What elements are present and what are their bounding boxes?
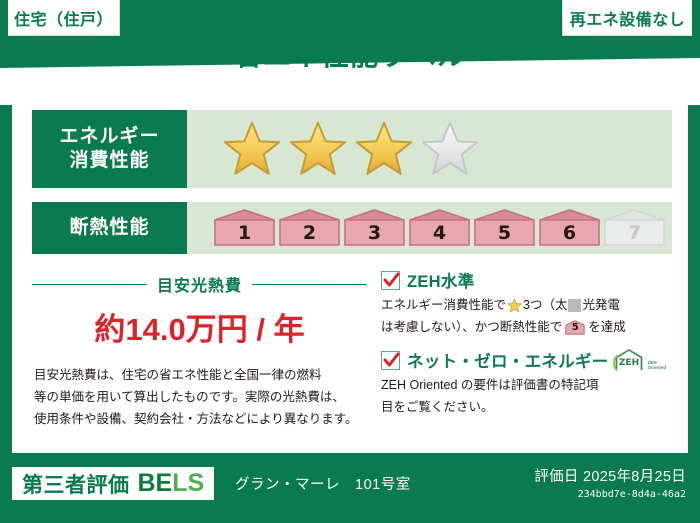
insulation-level-4: 4 <box>408 208 471 248</box>
star-rating <box>187 110 672 188</box>
insulation-level-number: 6 <box>563 222 576 248</box>
title-subtitle: 建築物省エネ法に基づく <box>0 12 700 32</box>
insulation-level-7: 7 <box>603 208 666 248</box>
star-empty-icon <box>421 121 479 177</box>
utility-cost-note: 目安光熱費は、住宅の省エネ性能と全国一律の燃料 等の単価を用いて算出したものです… <box>32 365 367 431</box>
evaluation-info: 評価日 2025年8月25日 234bbd7e-8d4a-46a2 <box>534 465 686 500</box>
net-zero-energy-label: ネット・ゼロ・エネルギー <box>407 348 609 372</box>
bels-logo: BELS <box>138 469 205 498</box>
net-zero-line-1: ZEH Oriented の要件は評価書の特記項 <box>381 375 671 397</box>
insulation-level-number: 2 <box>303 222 316 248</box>
star-filled-icon <box>355 121 413 177</box>
insulation-label-text: 断熱性能 <box>69 216 149 240</box>
redacted-character <box>568 299 581 312</box>
insulation-performance-label: 断熱性能 <box>32 202 187 254</box>
insulation-level-3: 3 <box>343 208 406 248</box>
energy-performance-label: エネルギー 消費性能 <box>32 110 187 188</box>
inline-star-icon <box>507 298 522 313</box>
heading-rule-right <box>252 284 367 285</box>
utility-cost-column: 目安光熱費 約14.0万円 / 年 目安光熱費は、住宅の省エネ性能と全国一律の燃… <box>32 268 367 440</box>
net-zero-line-2: 目をご覧ください。 <box>381 397 671 419</box>
evaluation-id: 234bbd7e-8d4a-46a2 <box>534 489 686 500</box>
insulation-level-6: 6 <box>538 208 601 248</box>
zeh-house-logo-icon: ZEH <box>612 348 646 372</box>
insulation-level-number: 4 <box>433 222 446 248</box>
zeh-standard-text-c: 光発電 <box>582 295 620 317</box>
bels-certification-block: 第三者評価 BELS <box>12 467 214 500</box>
utility-cost-heading-text: 目安光熱費 <box>147 272 252 296</box>
insulation-level-number: 5 <box>498 222 511 248</box>
zeh-logo-sub2: Oriented <box>648 365 667 370</box>
insulation-level-2: 2 <box>278 208 341 248</box>
zeh-standard-checkbox[interactable] <box>381 271 400 290</box>
zeh-standard-text-a: エネルギー消費性能で <box>381 295 506 317</box>
zeh-standard-title-row: ZEH水準 <box>381 268 671 292</box>
evaluation-date: 評価日 2025年8月25日 <box>534 465 686 486</box>
cost-note-line-2: 等の単価を用いて算出したものです。実際の光熱費は、 <box>34 387 367 409</box>
lower-section: 目安光熱費 約14.0万円 / 年 目安光熱費は、住宅の省エネ性能と全国一律の燃… <box>32 268 672 440</box>
bels-logo-dark: BE <box>138 469 173 497</box>
zeh-standard-label: ZEH水準 <box>407 268 475 292</box>
zeh-logo-subtext: ZEH Oriented <box>648 360 667 372</box>
zeh-column: ZEH水準 エネルギー消費性能で 3つ（太 光発電 は考慮しない）、かつ断熱性能… <box>381 268 671 440</box>
energy-label-line2: 消費性能 <box>69 149 149 173</box>
insulation-level-1: 1 <box>213 208 276 248</box>
insulation-level-5: 5 <box>473 208 536 248</box>
zeh-standard-line-2: は考慮しない）、かつ断熱性能で 5 を達成 <box>381 317 671 339</box>
energy-label-line1: エネルギー <box>59 125 159 149</box>
insulation-performance-row: 断熱性能 1234567 <box>32 202 672 254</box>
net-zero-energy-title-row: ネット・ゼロ・エネルギー ZEH ZEH Oriented <box>381 348 671 372</box>
svg-text:ZEH: ZEH <box>619 358 639 368</box>
insulation-level-number: 7 <box>628 222 641 248</box>
inline-house-level: 5 <box>572 323 579 335</box>
zeh-logo: ZEH ZEH Oriented <box>612 348 667 372</box>
inline-house-badge: 5 <box>565 320 585 335</box>
energy-performance-row: エネルギー 消費性能 <box>32 110 672 188</box>
zeh-standard-text-e: を達成 <box>588 317 626 339</box>
heading-rule-left <box>32 284 147 285</box>
third-party-evaluation-label: 第三者評価 <box>22 469 130 499</box>
utility-cost-heading: 目安光熱費 <box>32 272 367 296</box>
title-block: 建築物省エネ法に基づく 省エネ性能ラベル <box>0 12 700 74</box>
check-icon <box>383 272 400 289</box>
building-name: グラン・マーレ 101号室 <box>235 473 411 494</box>
zeh-standard-line-1: エネルギー消費性能で 3つ（太 光発電 <box>381 295 671 317</box>
insulation-level-scale: 1234567 <box>187 202 672 254</box>
zeh-standard-text-d: は考慮しない）、かつ断熱性能で <box>381 317 562 339</box>
star-filled-icon <box>289 121 347 177</box>
zeh-standard-block: ZEH水準 エネルギー消費性能で 3つ（太 光発電 は考慮しない）、かつ断熱性能… <box>381 268 671 338</box>
title-main: 省エネ性能ラベル <box>0 34 700 74</box>
insulation-level-number: 3 <box>368 222 381 248</box>
star-filled-icon <box>223 121 281 177</box>
net-zero-energy-description: ZEH Oriented の要件は評価書の特記項 目をご覧ください。 <box>381 375 671 418</box>
utility-cost-value: 約14.0万円 / 年 <box>32 304 367 349</box>
zeh-standard-text-b: 3つ（太 <box>523 295 567 317</box>
cost-note-line-1: 目安光熱費は、住宅の省エネ性能と全国一律の燃料 <box>34 365 367 387</box>
net-zero-energy-block: ネット・ゼロ・エネルギー ZEH ZEH Oriented <box>381 348 671 418</box>
main-panel: エネルギー 消費性能 断熱性能 <box>12 96 688 453</box>
insulation-level-number: 1 <box>238 222 251 248</box>
footer-bar: 第三者評価 BELS グラン・マーレ 101号室 評価日 2025年8月25日 … <box>0 455 700 523</box>
net-zero-energy-checkbox[interactable] <box>381 351 400 370</box>
check-icon <box>383 352 400 369</box>
zeh-standard-description: エネルギー消費性能で 3つ（太 光発電 は考慮しない）、かつ断熱性能で <box>381 295 671 338</box>
cost-note-line-3: 使用条件や設備、契約会社・方法などにより異なります。 <box>34 409 367 431</box>
bels-logo-light: LS <box>172 469 204 497</box>
